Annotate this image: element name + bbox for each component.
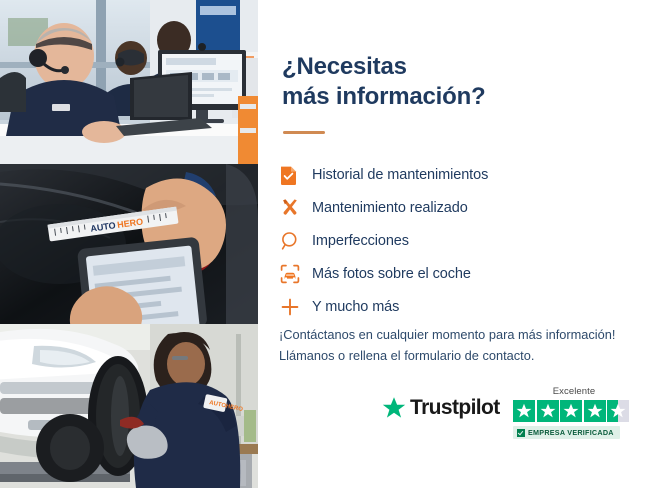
verified-check-icon [517,429,525,437]
content-panel: ¿Necesitas más información? Estamos enca… [258,0,650,488]
star-filled [560,400,582,422]
page-title: ¿Necesitas más información? [282,52,532,112]
magnifier-icon [278,229,312,253]
page-title-line-2: más información? [282,82,532,112]
plus-icon [278,295,312,319]
promo-card: AUTO HERO [0,0,650,488]
feature-label: Más fotos sobre el coche [312,266,471,282]
feature-list: Historial de mantenimientos Mantenimient… [278,158,628,323]
trustpilot-wordmark: Trustpilot [410,396,500,420]
verified-company-badge: EMPRESA VERIFICADA [513,426,620,439]
trustpilot-widget[interactable]: Trustpilot Excelente [382,386,638,448]
trustpilot-logo[interactable]: Trustpilot [382,396,500,420]
star-filled [584,400,606,422]
trustpilot-star-icon [382,396,406,420]
title-divider [283,131,325,134]
photo-collage: AUTO HERO [0,0,258,488]
feature-label: Historial de mantenimientos [312,167,488,183]
document-check-icon [278,163,312,187]
mechanic-wheel-photo: AUTOHERO [0,324,258,488]
trustpilot-rating-label: Excelente [513,386,635,397]
feature-label: Mantenimiento realizado [312,200,468,216]
contact-copy: ¡Contáctanos en cualquier momento para m… [279,325,639,366]
car-scan-icon [278,262,312,286]
contact-line-1: ¡Contáctanos en cualquier momento para m… [279,325,639,346]
star-filled [513,400,535,422]
trustpilot-stars [513,400,635,422]
feature-label: Y mucho más [312,299,399,315]
contact-line-2: Llámanos o rellena el formulario de cont… [279,346,639,367]
feature-item: Historial de mantenimientos [278,158,628,191]
feature-item: Mantenimiento realizado [278,191,628,224]
page-title-line-1: ¿Necesitas [282,53,407,80]
feature-item: Y mucho más [278,290,628,323]
call-center-agents-photo [0,0,258,164]
verified-company-label: EMPRESA VERIFICADA [528,428,614,437]
feature-label: Imperfecciones [312,233,409,249]
trustpilot-rating: Excelente [513,386,635,442]
star-filled [537,400,559,422]
feature-item: Más fotos sobre el coche [278,257,628,290]
star-half [607,400,629,422]
car-inspection-ruler-photo: AUTO HERO [0,164,258,324]
tools-wrench-screwdriver-icon [278,196,312,220]
feature-item: Imperfecciones [278,224,628,257]
